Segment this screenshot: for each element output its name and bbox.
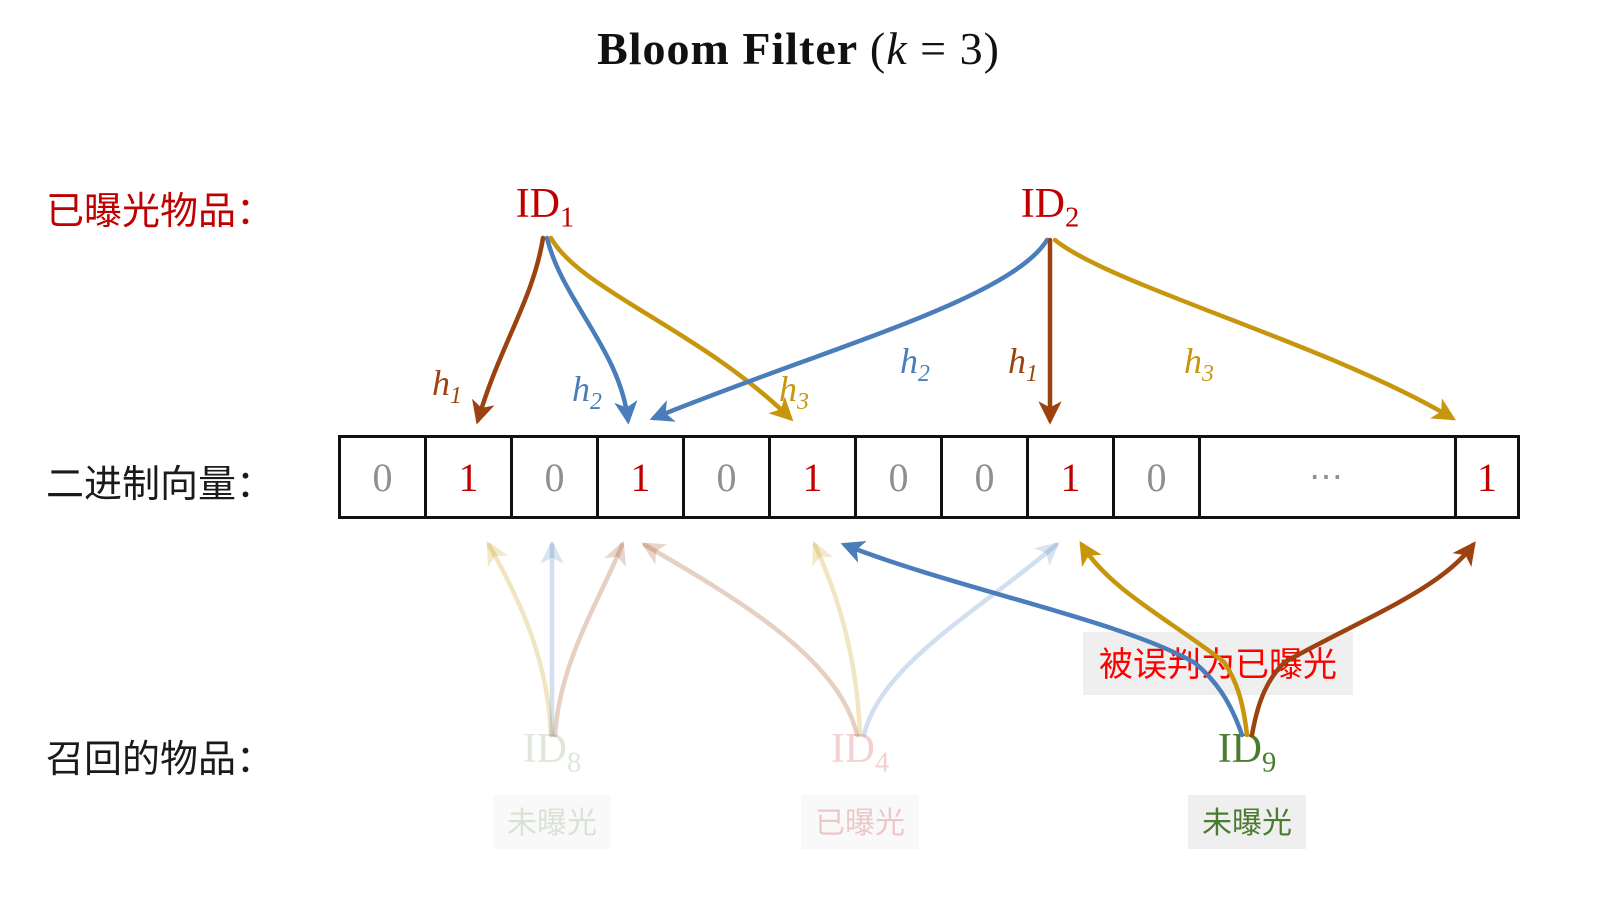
paren-open: (	[870, 23, 886, 74]
arrow-id2-h2	[654, 240, 1047, 418]
bit-cell-4[interactable]: 0	[685, 438, 771, 516]
param-k: k	[886, 23, 907, 74]
status-badge-id9: 未曝光	[1188, 795, 1306, 849]
bit-cell-3[interactable]: 1	[599, 438, 685, 516]
title-main: Bloom Filter	[597, 23, 857, 74]
binary-vector-label: 二进制向量：	[46, 453, 274, 508]
arrow-id2-h3	[1055, 240, 1452, 418]
hash-label-h2-b-name: h	[900, 341, 918, 381]
exposed-id-2-sub: 2	[1065, 202, 1079, 233]
hash-label-h3-a-sub: 3	[797, 389, 809, 415]
exposed-items-label: 已曝光物品：	[46, 180, 274, 235]
param-value: 3	[960, 23, 984, 74]
hash-label-h2-b-sub: 2	[918, 361, 930, 387]
arrow-id4-h3	[815, 545, 860, 735]
hash-label-h2-a-name: h	[572, 369, 590, 409]
bit-cell-8[interactable]: 1	[1029, 438, 1115, 516]
retrieved-id-8-text: ID	[523, 726, 567, 772]
hash-label-h2-b: h2	[900, 340, 930, 388]
arrow-id1-h1	[478, 238, 543, 420]
page-title: Bloom Filter (k = 3)	[0, 22, 1597, 75]
retrieved-id-4: ID4	[831, 725, 890, 779]
hash-label-h1-a: h1	[432, 362, 462, 410]
hash-label-h2-a-sub: 2	[590, 389, 602, 415]
hash-label-h3-b-sub: 3	[1202, 361, 1214, 387]
hash-label-h3-a: h3	[779, 368, 809, 416]
status-badge-id4: 已曝光	[801, 795, 919, 849]
arrow-id8-h1	[555, 545, 622, 735]
arrow-id4-h1	[645, 545, 857, 735]
arrow-id4-h2	[864, 545, 1056, 735]
bit-cell-0[interactable]: 0	[341, 438, 427, 516]
hash-label-h1-b-sub: 1	[1026, 361, 1038, 387]
retrieved-id-4-sub: 4	[875, 747, 889, 778]
false-positive-callout: 被误判为已曝光	[1083, 632, 1353, 695]
hash-label-h3-a-name: h	[779, 369, 797, 409]
exposed-id-2: ID2	[1021, 180, 1080, 234]
retrieved-items-label: 召回的物品：	[46, 728, 274, 783]
bit-cell-9[interactable]: 0	[1115, 438, 1201, 516]
bit-cell-5[interactable]: 1	[771, 438, 857, 516]
hash-label-h1-a-sub: 1	[450, 383, 462, 409]
binary-vector: 0 1 0 1 0 1 0 0 1 0 ⋯ 1	[338, 435, 1520, 519]
exposed-id-2-text: ID	[1021, 181, 1065, 227]
exposed-id-1: ID1	[516, 180, 575, 234]
hash-label-h1-b: h1	[1008, 340, 1038, 388]
exposed-id-1-text: ID	[516, 181, 560, 227]
bit-cell-1[interactable]: 1	[427, 438, 513, 516]
hash-label-h2-a: h2	[572, 368, 602, 416]
bit-cell-7[interactable]: 0	[943, 438, 1029, 516]
hash-label-h1-a-name: h	[432, 363, 450, 403]
paren-close: )	[984, 23, 1000, 74]
bit-cell-6[interactable]: 0	[857, 438, 943, 516]
hash-label-h3-b: h3	[1184, 340, 1214, 388]
hash-label-h3-b-name: h	[1184, 341, 1202, 381]
arrow-id8-h3	[489, 545, 551, 735]
retrieved-id-9-sub: 9	[1262, 747, 1276, 778]
param-eq: =	[908, 23, 960, 74]
diagram-canvas: Bloom Filter (k = 3) 已曝光物品： 二进制向量： 召回的物品…	[0, 0, 1597, 897]
retrieved-id-9: ID9	[1218, 725, 1277, 779]
bit-cell-last[interactable]: 1	[1457, 438, 1517, 516]
retrieved-id-9-text: ID	[1218, 726, 1262, 772]
hash-label-h1-b-name: h	[1008, 341, 1026, 381]
retrieved-id-4-text: ID	[831, 726, 875, 772]
bit-cell-ellipsis: ⋯	[1201, 438, 1457, 516]
status-badge-id8: 未曝光	[493, 795, 611, 849]
retrieved-id-8-sub: 8	[567, 747, 581, 778]
retrieved-id-8: ID8	[523, 725, 582, 779]
exposed-id-1-sub: 1	[560, 202, 574, 233]
title-param: (k = 3)	[870, 23, 1000, 74]
bit-cell-2[interactable]: 0	[513, 438, 599, 516]
